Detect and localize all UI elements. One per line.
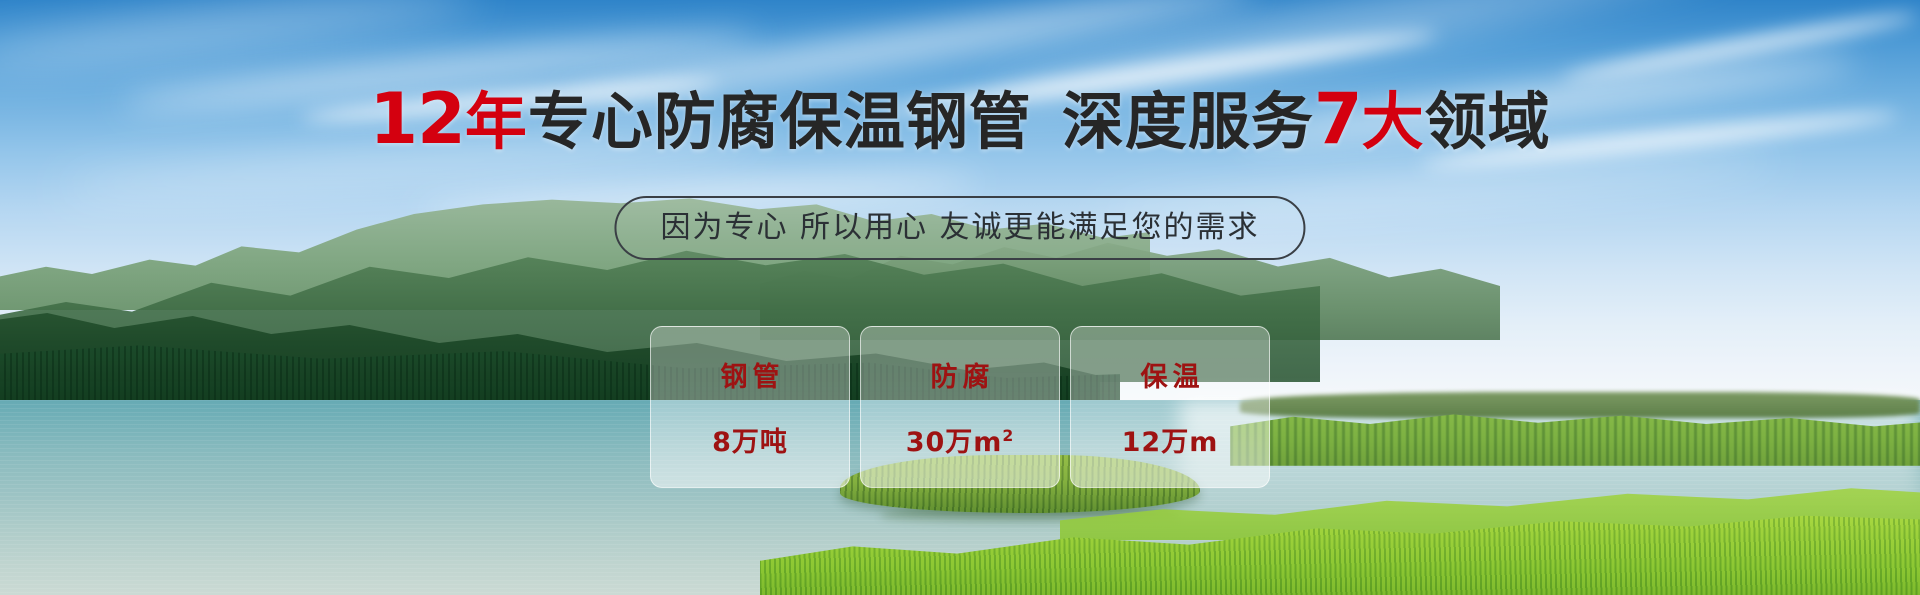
subtitle-pill: 因为专心 所以用心 友诚更能满足您的需求 [614, 196, 1305, 260]
stat-card-title: 钢管 [716, 355, 785, 394]
stat-card-value: 8万吨 [712, 420, 788, 459]
promo-banner: 12年专心防腐保温钢管深度服务7大领域 因为专心 所以用心 友诚更能满足您的需求… [0, 0, 1920, 595]
headline-fields-word: 领域 [1425, 85, 1551, 158]
headline-fields-unit: 大 [1362, 85, 1425, 158]
stat-card-group: 钢管 8万吨 防腐 30万m2 保温 12万m [650, 326, 1270, 488]
headline-years-unit: 年 [465, 85, 528, 158]
stat-card-value: 12万m [1122, 420, 1219, 459]
headline-product: 专心防腐保温钢管 [528, 85, 1032, 158]
headline-years-number: 12 [369, 78, 464, 160]
stat-card-title: 保温 [1136, 355, 1205, 394]
stat-card-value-text: 8万吨 [712, 427, 788, 458]
banner-headline: 12年专心防腐保温钢管深度服务7大领域 [0, 84, 1920, 154]
stat-card-title: 防腐 [926, 355, 995, 394]
stat-card-value: 30万m2 [906, 420, 1015, 459]
stat-card-value-superscript: 2 [1002, 426, 1014, 445]
subtitle-text: 因为专心 所以用心 友诚更能满足您的需求 [660, 210, 1259, 245]
headline-service: 深度服务 [1062, 85, 1314, 158]
stat-card-insulation[interactable]: 保温 12万m [1070, 326, 1270, 488]
stat-card-value-text: 30万m [906, 427, 1003, 458]
stat-card-value-text: 12万m [1122, 427, 1219, 458]
headline-fields-number: 7 [1314, 78, 1362, 160]
stat-card-steel-pipe[interactable]: 钢管 8万吨 [650, 326, 850, 488]
far-bank [1240, 392, 1920, 418]
stat-card-anticorrosion[interactable]: 防腐 30万m2 [860, 326, 1060, 488]
